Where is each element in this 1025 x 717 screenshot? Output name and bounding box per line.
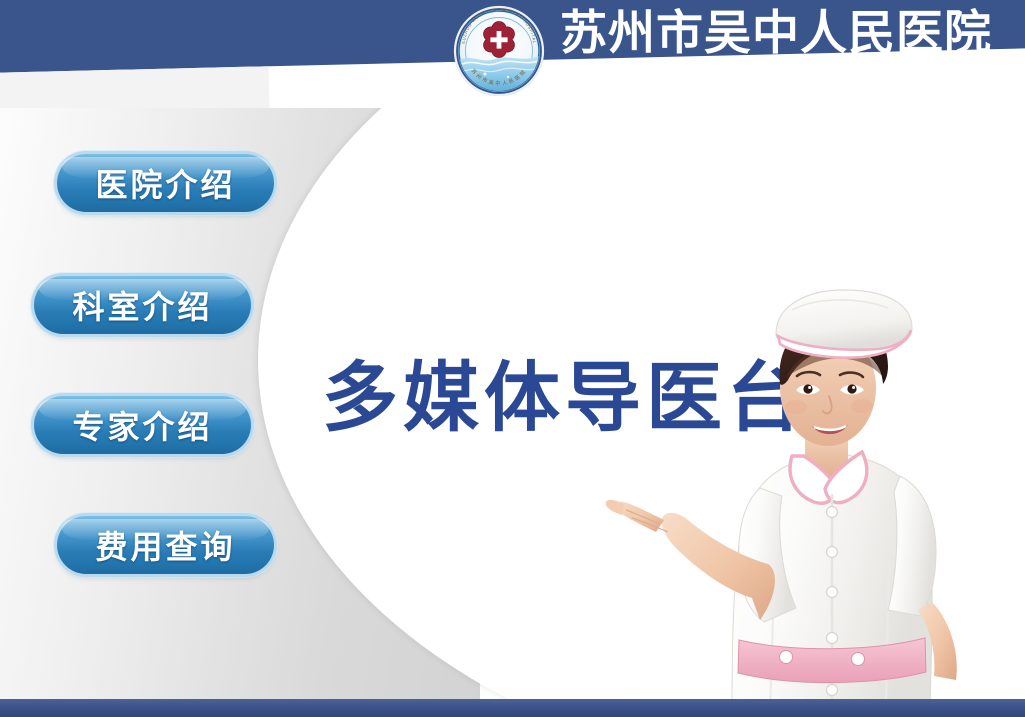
- kiosk-screen: SUZHOU WUZHONG PEOPLE'S HOSPITAL 苏州市吴中人民…: [0, 0, 1025, 717]
- sidebar-item-label: 费用查询: [95, 522, 235, 568]
- sidebar-item-label: 科室介绍: [72, 282, 212, 328]
- brand-text: 苏州市吴中人民医院 Suzhou Wuzhong People's Hospit…: [560, 10, 1025, 92]
- sidebar-item-hospital-intro[interactable]: 医院介绍: [57, 154, 274, 212]
- hospital-name-cn: 苏州市吴中人民医院: [560, 10, 1025, 57]
- nurse-photo-icon: [600, 280, 1025, 710]
- hospital-name-en: Suzhou Wuzhong People's Hospital: [560, 63, 1025, 92]
- sidebar-item-expert-intro[interactable]: 专家介绍: [34, 396, 251, 454]
- header-bottom-wedge-gray: [0, 66, 270, 108]
- sidebar-item-label: 专家介绍: [72, 402, 212, 448]
- hospital-seal-logo-icon: SUZHOU WUZHONG PEOPLE'S HOSPITAL 苏州市吴中人民…: [452, 4, 546, 98]
- header-bar: SUZHOU WUZHONG PEOPLE'S HOSPITAL 苏州市吴中人民…: [0, 0, 1025, 108]
- brand-block: SUZHOU WUZHONG PEOPLE'S HOSPITAL 苏州市吴中人民…: [452, 4, 1025, 98]
- footer-bar: [0, 699, 1025, 717]
- sidebar-item-department-intro[interactable]: 科室介绍: [34, 276, 251, 334]
- sidebar-item-fee-inquiry[interactable]: 费用查询: [57, 516, 274, 574]
- sidebar-item-label: 医院介绍: [95, 160, 235, 206]
